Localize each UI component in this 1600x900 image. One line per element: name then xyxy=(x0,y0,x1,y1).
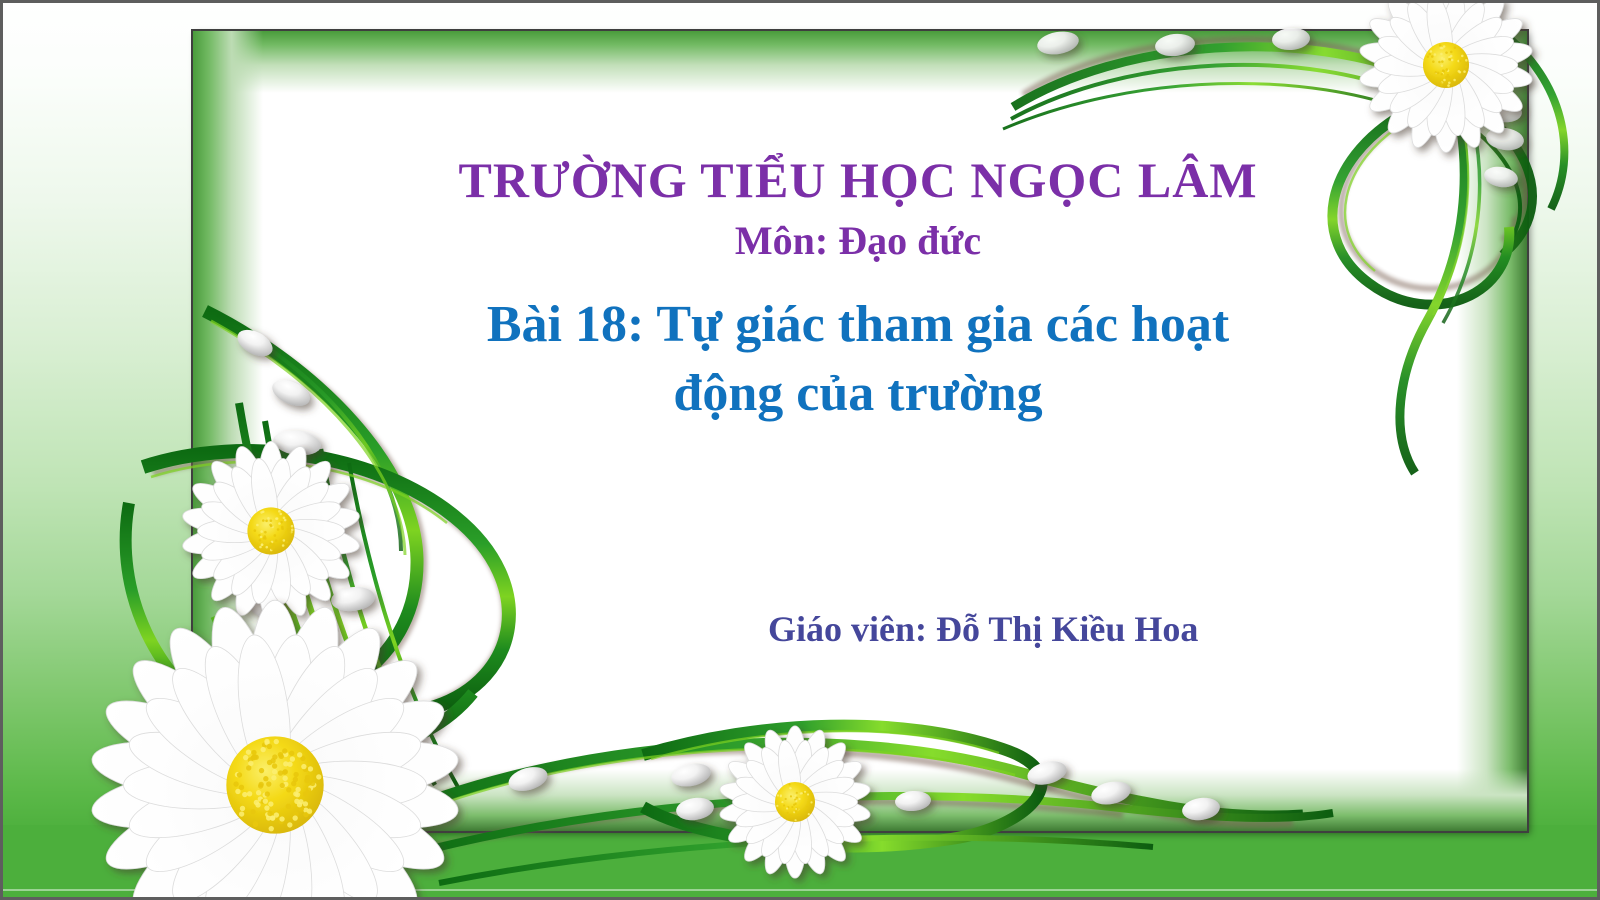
page-title: TRƯỜNG TIỂU HỌC NGỌC LÂM xyxy=(213,153,1503,207)
frame-edge-bottom xyxy=(193,769,1527,831)
lesson-title-line-1: Bài 18: Tự giác tham gia các hoạt xyxy=(348,291,1368,360)
lesson-title: Bài 18: Tự giác tham gia các hoạt động c… xyxy=(348,291,1368,428)
subject-label: Môn: Đạo đức xyxy=(213,219,1503,263)
title-slide: TRƯỜNG TIỂU HỌC NGỌC LÂM Môn: Đạo đức Bà… xyxy=(0,0,1600,900)
frame-edge-top xyxy=(193,31,1527,93)
inner-frame xyxy=(193,31,1527,831)
lesson-title-line-2: động của trường xyxy=(348,360,1368,429)
frame-edge-right xyxy=(1457,31,1527,831)
frame-edge-left xyxy=(193,31,263,831)
bottom-green-band xyxy=(3,825,1597,897)
slide-text-block: TRƯỜNG TIỂU HỌC NGỌC LÂM Môn: Đạo đức Bà… xyxy=(213,153,1503,428)
teacher-name: Giáo viên: Đỗ Thị Kiều Hoa xyxy=(768,608,1198,650)
